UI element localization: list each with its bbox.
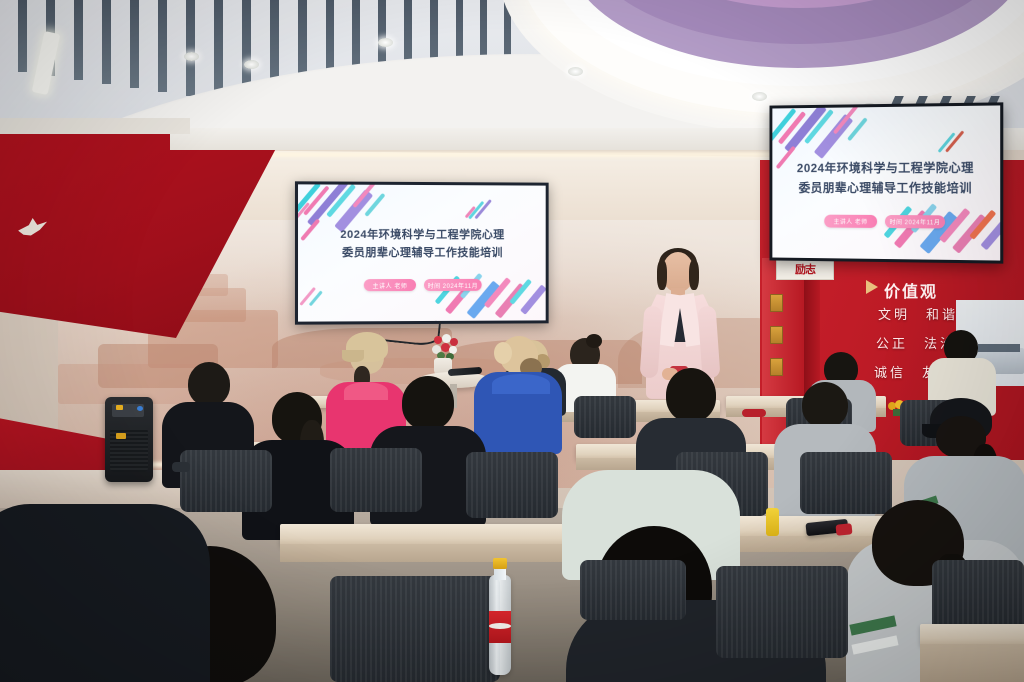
flower-bouquet: [430, 334, 460, 360]
desk: [920, 624, 1024, 646]
tv-slide-pill-date: 时间 2024年11月: [885, 215, 945, 228]
projection-slide: 2024年环境科学与工程学院心理 委员朋辈心理辅导工作技能培训 主讲人 老师 时…: [298, 184, 546, 321]
wall-banner: 励志: [776, 258, 834, 280]
wall-plaque: [770, 326, 783, 344]
chair: [716, 566, 848, 658]
pa-speaker-knob: [116, 405, 123, 410]
downlight: [244, 60, 259, 69]
slide-pill-date: 时间 2024年11月: [424, 279, 482, 291]
wall-tv-slide: 2024年环境科学与工程学院心理 委员朋辈心理辅导工作技能培训 主讲人 老师 时…: [772, 105, 1000, 260]
tv-slide-title-line-2: 委员朋辈心理辅导工作技能培训: [788, 179, 984, 197]
chair: [580, 560, 686, 620]
chair: [466, 452, 558, 518]
red-object-on-desk: [742, 409, 766, 417]
presenter-hair-right: [689, 260, 699, 290]
presenter-hair-left: [657, 260, 667, 290]
chair: [574, 396, 636, 438]
ceiling-soffit-left: [0, 118, 190, 134]
values-title: 价值观: [884, 278, 938, 302]
chair: [932, 560, 1024, 632]
highlighter-marker: [766, 508, 779, 536]
projection-screen[interactable]: 2024年环境科学与工程学院心理 委员朋辈心理辅导工作技能培训 主讲人 老师 时…: [295, 181, 549, 324]
downlight: [184, 52, 199, 61]
audience-person: [0, 484, 210, 682]
chair: [330, 576, 500, 682]
slide-pill-speaker: 主讲人 老师: [364, 279, 416, 291]
slide-title-line-1: 2024年环境科学与工程学院心理: [316, 227, 529, 244]
downlight: [378, 38, 393, 47]
downlight: [752, 92, 767, 101]
values-line-1: 文明 和谐: [878, 304, 958, 323]
desk-front: [920, 644, 1024, 682]
tv-slide-pill-speaker: 主讲人 老师: [824, 215, 877, 228]
wall-plaque: [770, 294, 783, 312]
pa-speaker-badge: [116, 433, 126, 439]
downlight: [568, 67, 583, 76]
chair-arm: [172, 462, 190, 472]
chair: [330, 448, 422, 512]
wall-plaque: [770, 358, 783, 376]
audience-person: [478, 336, 556, 452]
photo-scene: 励志 价值观 文明 和谐 公正 法治 诚信 友善: [0, 0, 1024, 682]
bottle-cap: [493, 558, 507, 569]
slide-title-line-2: 委员朋辈心理辅导工作技能培训: [316, 245, 529, 262]
tv-slide-title-line-1: 2024年环境科学与工程学院心理: [788, 159, 984, 178]
bottle-label-wave: [489, 623, 511, 629]
ceiling-light-tube: [32, 31, 61, 95]
pa-speaker-led: [137, 406, 143, 411]
wall-tv[interactable]: 2024年环境科学与工程学院心理 委员朋辈心理辅导工作技能培训 主讲人 老师 时…: [769, 102, 1003, 263]
triangle-bullet-icon: [866, 280, 878, 294]
